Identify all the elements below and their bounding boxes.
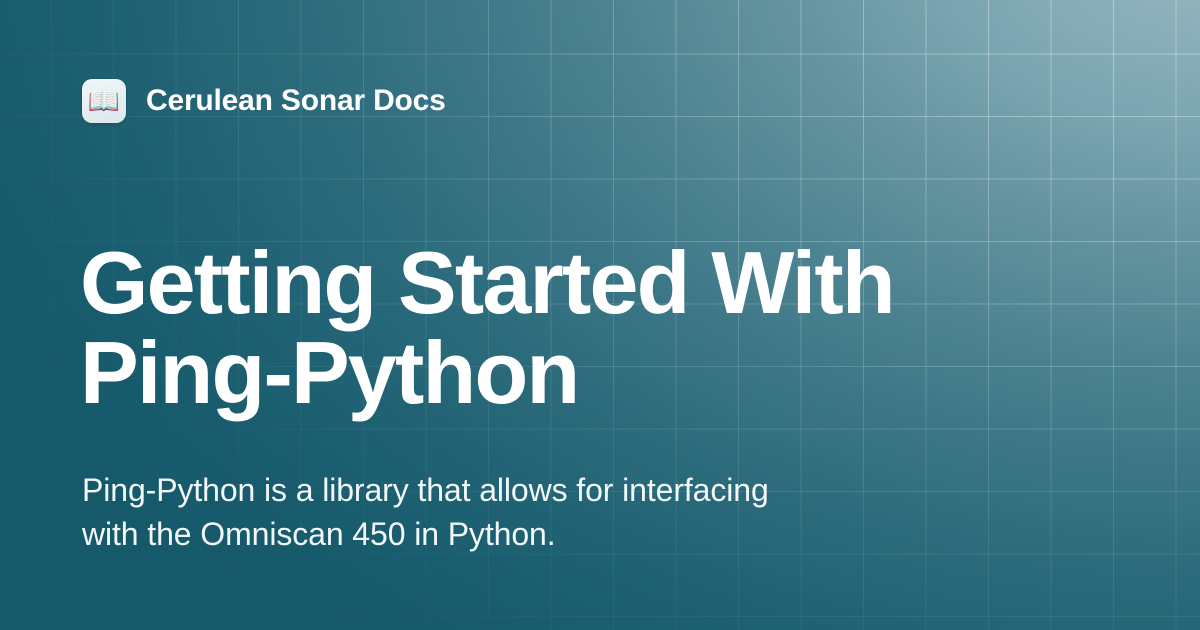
brand-name: Cerulean Sonar Docs [146, 84, 446, 118]
page-description: Ping-Python is a library that allows for… [82, 468, 782, 556]
page-title: Getting Started With Ping-Python [80, 238, 1080, 418]
brand-lockup: 📖 Cerulean Sonar Docs [82, 79, 446, 123]
open-book-icon: 📖 [82, 79, 126, 123]
social-preview-card: 📖 Cerulean Sonar Docs Getting Started Wi… [0, 0, 1200, 630]
card-content: 📖 Cerulean Sonar Docs Getting Started Wi… [0, 0, 1200, 630]
